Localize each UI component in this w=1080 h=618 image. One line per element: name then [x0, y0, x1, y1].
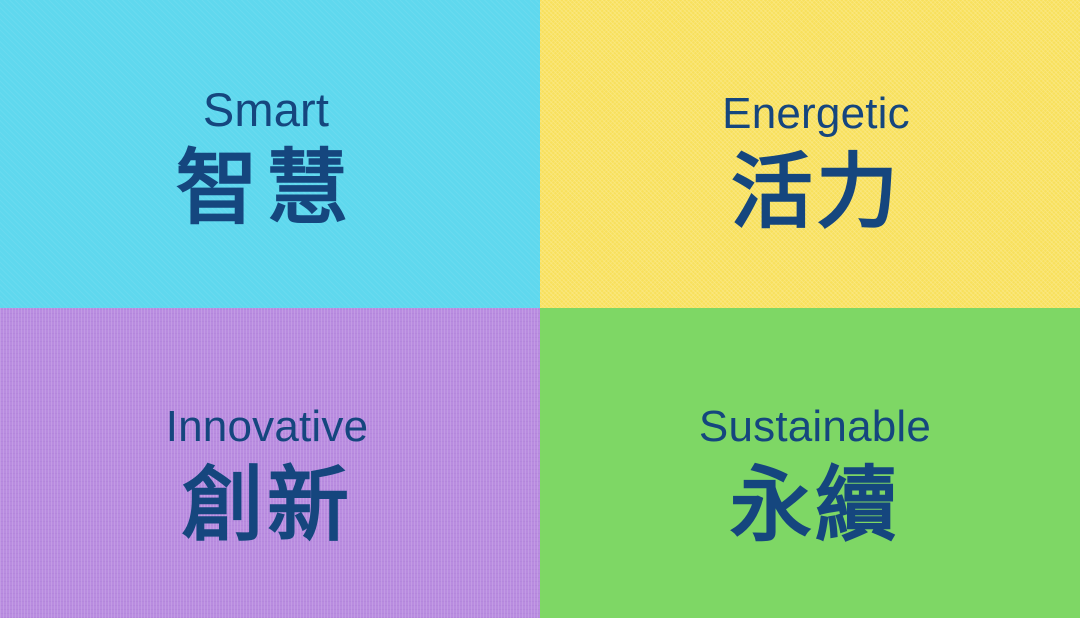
value-card-smart[interactable]: Smart 智慧 [0, 0, 540, 308]
value-text-block-sustainable: Sustainable 永續 [699, 405, 931, 547]
value-text-block-innovative: Innovative 創新 [166, 405, 369, 547]
value-label-en-smart: Smart [203, 86, 329, 133]
value-text-block-smart: Smart 智慧 [176, 86, 356, 230]
value-label-cjk-energetic: 活力 [731, 152, 902, 234]
value-card-energetic[interactable]: Energetic 活力 [540, 0, 1080, 308]
value-label-cjk-sustainable: 永續 [730, 465, 901, 547]
value-label-cjk-innovative: 創新 [182, 465, 353, 547]
value-card-innovative[interactable]: Innovative 創新 [0, 308, 540, 618]
value-card-sustainable[interactable]: Sustainable 永續 [540, 308, 1080, 618]
value-label-en-energetic: Energetic [722, 92, 910, 136]
value-label-en-innovative: Innovative [166, 405, 369, 449]
value-label-cjk-smart: 智慧 [176, 148, 356, 230]
brand-values-grid: Smart 智慧 Energetic 活力 Innovative 創新 Sust… [0, 0, 1080, 618]
value-label-en-sustainable: Sustainable [699, 405, 931, 449]
value-text-block-energetic: Energetic 活力 [722, 92, 910, 234]
